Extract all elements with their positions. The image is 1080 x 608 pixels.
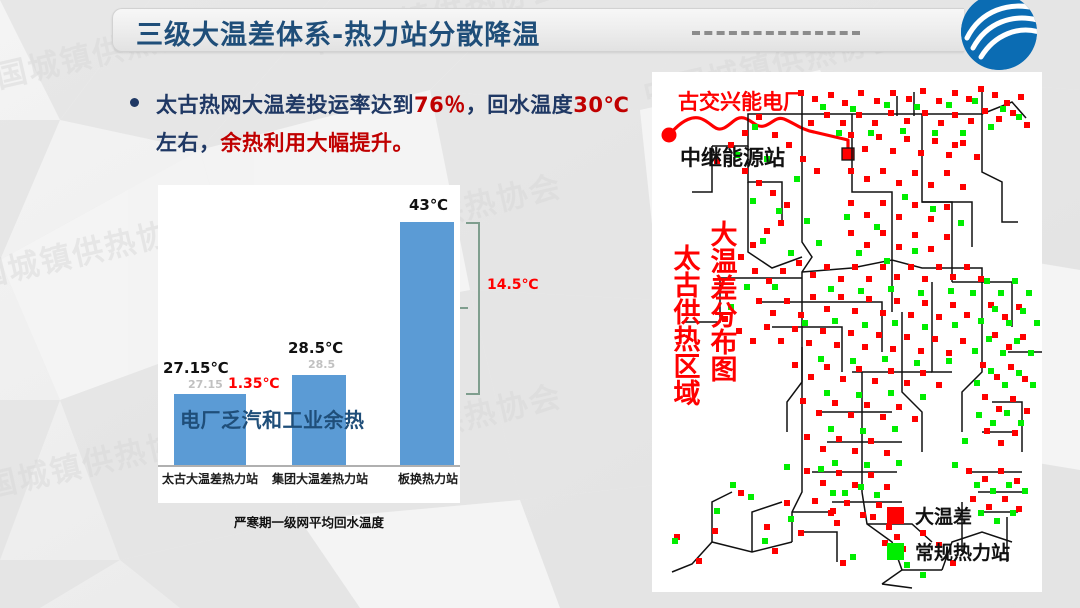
map-plant-label: 古交兴能电厂 bbox=[678, 86, 804, 116]
legend-swatch-red-icon bbox=[887, 507, 904, 524]
annotation-delta-bracket: 14.5℃ bbox=[487, 277, 539, 293]
plant-marker bbox=[662, 128, 677, 143]
legend-item-conventional-station: 常规热力站 bbox=[887, 538, 1010, 565]
title-dashed-divider bbox=[692, 31, 860, 35]
bullet-paragraph: 太古热网大温差投运率达到76％，回水温度30℃左右，余热利用大幅提升。 bbox=[130, 86, 630, 162]
bar-1-value-label: 27.15℃ bbox=[163, 359, 229, 377]
bar-2-obscured-label: 28.5 bbox=[308, 358, 335, 371]
page-title: 三级大温差体系-热力站分散降温 bbox=[136, 13, 540, 52]
bullet-text-4: 左右， bbox=[156, 131, 221, 155]
annotation-overlay-note: 电厂乏汽和工业余热 bbox=[180, 404, 365, 433]
x-axis-label-2: 集团大温差热力站 bbox=[262, 470, 378, 487]
legend-label-big-temp-diff: 大温差 bbox=[915, 502, 972, 529]
bar-2-value-label: 28.5℃ bbox=[288, 339, 343, 357]
bullet-text-2: ，回水温 bbox=[466, 93, 552, 117]
chart-x-axis bbox=[158, 465, 460, 467]
map-legend: 大温差 常规热力站 bbox=[887, 502, 1010, 574]
annotation-bracket bbox=[466, 222, 480, 395]
bullet-text-3: 度 bbox=[552, 93, 574, 117]
legend-swatch-green-icon bbox=[887, 543, 904, 560]
x-axis-label-3: 板换热力站 bbox=[383, 470, 473, 487]
legend-label-conventional-station: 常规热力站 bbox=[915, 538, 1010, 565]
bar-3-value-label: 43℃ bbox=[409, 196, 448, 214]
bullet-highlight-temp: 30℃ bbox=[573, 93, 629, 117]
x-axis-label-1: 太古大温差热力站 bbox=[152, 470, 268, 487]
map-title-left-column: 太古供热区域 bbox=[670, 244, 698, 406]
bullet-highlight-rate: 76％ bbox=[414, 93, 466, 117]
bar-1-obscured-label: 27.15 bbox=[188, 378, 223, 391]
bullet-highlight-conclusion: 余热利用大幅提升。 bbox=[221, 131, 415, 155]
annotation-bracket-tick bbox=[460, 307, 468, 309]
bullet-dot-icon bbox=[130, 98, 139, 107]
map-title-right-column: 大温差分布图 bbox=[707, 220, 735, 382]
annotation-delta-1-2: 1.35℃ bbox=[228, 376, 280, 392]
bar-3 bbox=[400, 222, 454, 465]
legend-item-big-temp-diff: 大温差 bbox=[887, 502, 1010, 529]
map-relay-station-label: 中继能源站 bbox=[680, 142, 785, 172]
heating-network-map: 古交兴能电厂 中继能源站 大温差分布图 太古供热区域 大温差 常规热力站 bbox=[652, 72, 1042, 592]
bullet-text-1: 太古热网大温差投运率达到 bbox=[156, 93, 414, 117]
chart-caption: 严寒期一级网平均回水温度 bbox=[158, 512, 460, 531]
